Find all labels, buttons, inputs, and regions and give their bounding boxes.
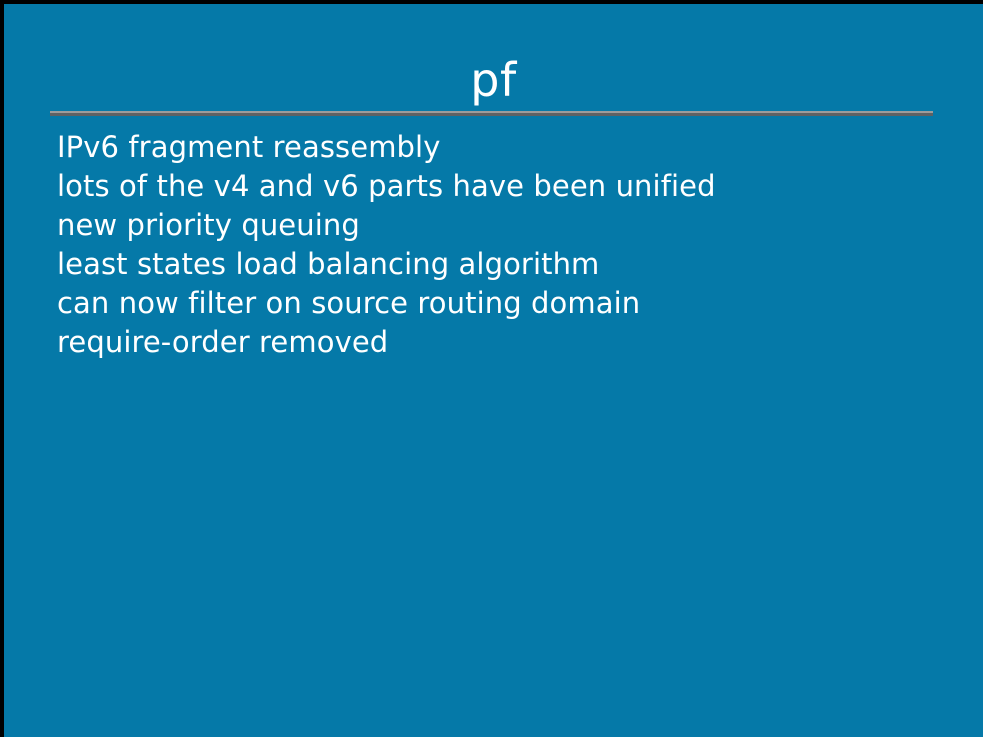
slide-body-list: IPv6 fragment reassembly lots of the v4 … [57, 128, 957, 362]
body-line: IPv6 fragment reassembly [57, 128, 957, 167]
slide-title: pf [4, 52, 983, 108]
presentation-slide: pf IPv6 fragment reassembly lots of the … [0, 0, 983, 737]
body-line: new priority queuing [57, 206, 957, 245]
body-line: require-order removed [57, 323, 957, 362]
body-line: least states load balancing algorithm [57, 245, 957, 284]
body-line: lots of the v4 and v6 parts have been un… [57, 167, 957, 206]
slide-surface: pf IPv6 fragment reassembly lots of the … [4, 4, 983, 737]
title-divider-rule [50, 111, 933, 116]
body-line: can now filter on source routing domain [57, 284, 957, 323]
